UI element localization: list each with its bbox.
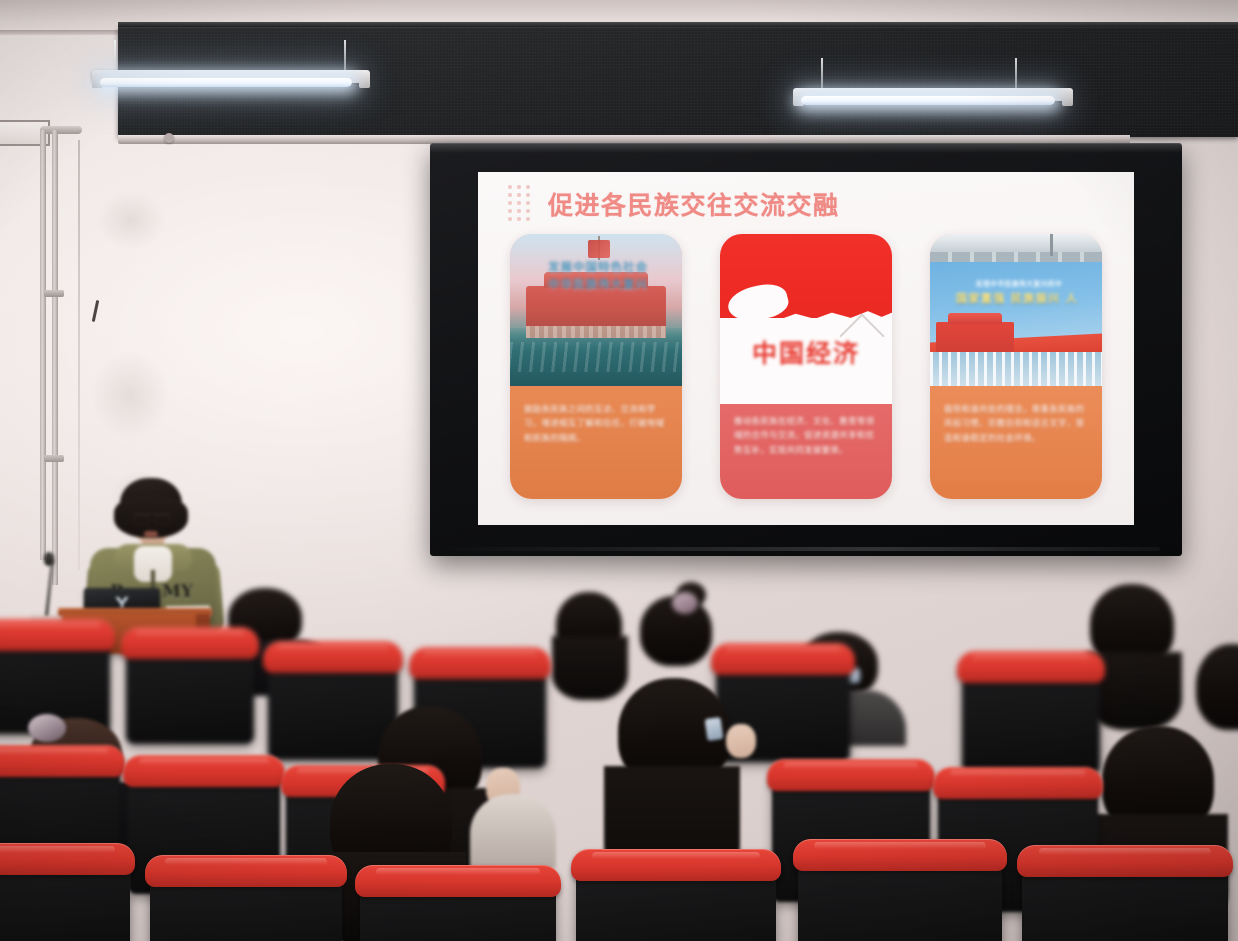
card-3-building-roof [930,234,1102,262]
auditorium-seat[interactable] [576,856,776,941]
wall-panel-seam [78,140,80,570]
student-hair [552,636,628,700]
student-head [1196,644,1238,730]
presenter-glasses [134,513,170,523]
auditorium-seat[interactable] [0,850,130,941]
auditorium-seat[interactable] [360,872,556,941]
screen-frame-highlight [430,143,1182,153]
fluorescent-tube [100,78,352,87]
light-endcap-right [359,72,370,88]
light-endcap-right [1062,90,1073,106]
wall-pipe-2 [52,130,58,585]
card-2-image: 中国经济 [720,234,892,404]
card-1-banner-line-1: 发展中国特色社会 [514,259,682,275]
presenter-mouth [144,531,158,537]
hair-scrunchie [28,714,66,742]
pipe-clamp-lower [44,455,64,462]
wall-pipe-1 [40,130,46,560]
slide-title: 促进各民族交往交流交融 [548,186,840,222]
card-2-headline: 中国经济 [720,334,892,370]
ceiling-light-right [793,88,1073,102]
card-3-billboard-line-1: 实现中华民族伟大复兴的中 [976,278,1102,288]
auditorium-seat[interactable] [1022,852,1228,941]
audience-area [0,556,1238,941]
lecture-hall-photo: 促进各民族交往交流交融 发展中国特色社会 中华民族伟大复兴 鼓励各民族之间的互访… [0,0,1238,941]
auditorium-seat[interactable] [126,634,254,744]
presentation-slide: 促进各民族交往交流交融 发展中国特色社会 中华民族伟大复兴 鼓励各民族之间的互访… [478,172,1134,525]
ceiling-light-left [92,70,370,84]
card-3-gate-graphic [936,322,1014,356]
light-wire-left [114,40,116,70]
card-3-fence [930,352,1102,386]
card-1-caption: 鼓励各民族之间的互访、交流和学习，增进相互了解和信任，打破地域和民族的隔阂。 [510,386,682,499]
wall-smudge-mid [90,350,170,440]
card-1-tiananmen-gate [526,286,666,338]
screen-frame-highlight-bottom [438,547,1160,551]
pipe-elbow [40,126,82,134]
slide-card-3: 实现中华民族伟大复兴的中 国家富强 民族振兴 人 倡导和谐共处的理念，尊重各民族… [930,234,1102,499]
blackboard-rail-knob [164,133,174,143]
slide-card-1: 发展中国特色社会 中华民族伟大复兴 鼓励各民族之间的互访、交流和学习，增进相互了… [510,234,682,499]
fluorescent-tube [801,96,1055,105]
card-1-image: 发展中国特色社会 中华民族伟大复兴 [510,234,682,386]
phone[interactable] [705,717,724,741]
light-wire-right [344,40,346,70]
student-hand [726,724,756,758]
projection-screen[interactable]: 促进各民族交往交流交融 发展中国特色社会 中华民族伟大复兴 鼓励各民族之间的互访… [430,143,1182,556]
card-1-flag [588,240,610,258]
card-3-caption: 倡导和谐共处的理念，尊重各民族的风俗习惯、宗教信仰和语言文字，营造和谐稳定的社会… [930,386,1102,499]
auditorium-seat[interactable] [798,846,1002,941]
card-3-mast [1050,234,1053,256]
slide-card-2: 中国经济 推动各民族在经济、文化、教育等领域的合作与交流，促进资源共享和优势互补… [720,234,892,499]
card-3-image: 实现中华民族伟大复兴的中 国家富强 民族振兴 人 [930,234,1102,386]
student-shoulders [470,794,556,868]
hair-scrunchie [672,592,698,614]
wall-smudge-upper [96,190,166,250]
card-1-banner-line-2: 中华民族伟大复兴 [514,276,682,292]
card-2-caption: 推动各民族在经济、文化、教育等领域的合作与交流，促进资源共享和优势互补，实现共同… [720,404,892,499]
pipe-clamp-upper [44,290,64,297]
auditorium-seat[interactable] [962,658,1100,774]
light-wire-left [821,58,823,88]
card-3-billboard-line-2: 国家富强 民族振兴 人 [956,290,1102,306]
light-wire-right [1015,58,1017,88]
dot-grid-decoration [506,184,532,222]
slide-card-row: 发展中国特色社会 中华民族伟大复兴 鼓励各民族之间的互访、交流和学习，增进相互了… [510,234,1102,504]
auditorium-seat[interactable] [150,862,342,941]
